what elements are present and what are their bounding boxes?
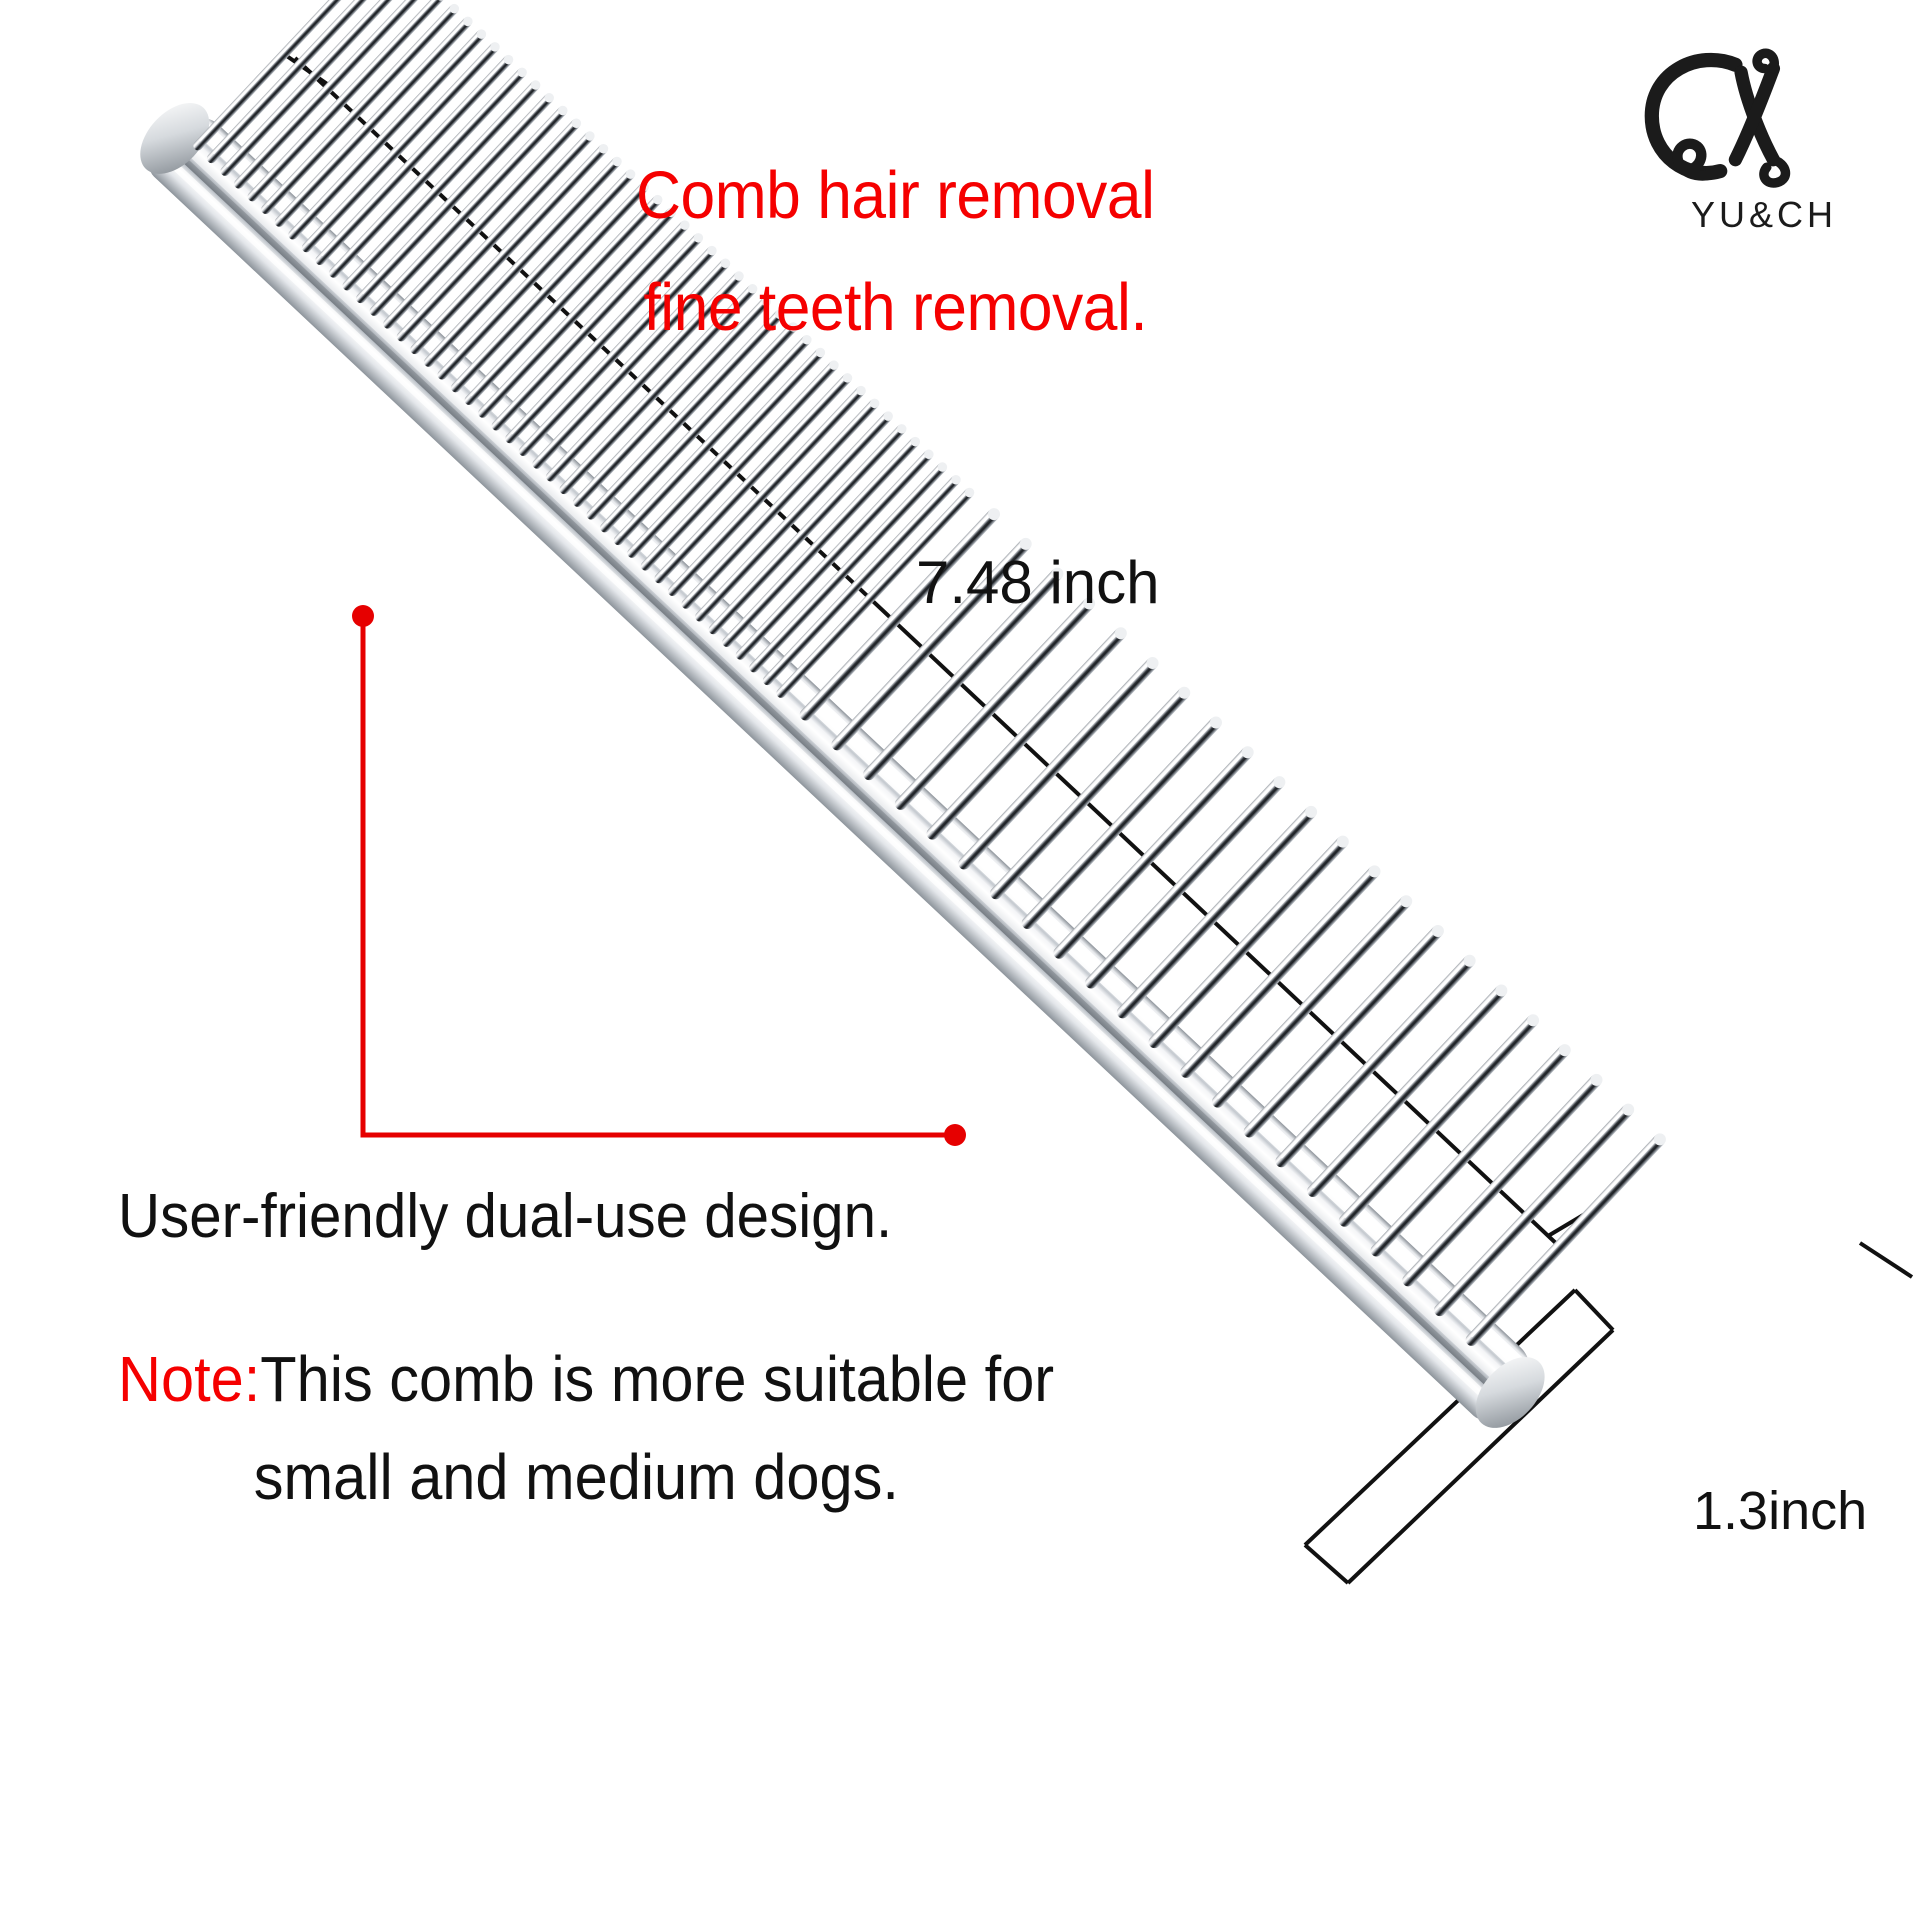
comb-tooth xyxy=(988,684,1193,901)
comb-tooth xyxy=(1051,744,1256,961)
comb-tooth xyxy=(1400,1071,1605,1288)
comb-wide-teeth-group xyxy=(797,506,1668,1349)
comb-tooth xyxy=(1431,1101,1636,1318)
comb-tooth xyxy=(1146,833,1351,1050)
comb-tooth xyxy=(1114,803,1319,1020)
callout-label: User-friendly dual-use design. xyxy=(118,1181,892,1252)
comb-tooth xyxy=(1019,714,1224,931)
note-line-1: This comb is more suitable for xyxy=(260,1343,1054,1415)
headline: Comb hair removal fine teeth removal. xyxy=(636,140,1343,364)
cy-scissors-monogram-icon xyxy=(1624,40,1824,192)
headline-line-1: Comb hair removal xyxy=(636,140,1343,252)
comb-tooth xyxy=(1178,863,1383,1080)
callout-leader xyxy=(352,605,966,1146)
callout-dot-fine-teeth xyxy=(352,605,374,627)
note-keyword: Note: xyxy=(118,1343,260,1415)
note-block: Note:This comb is more suitable for smal… xyxy=(118,1330,1054,1526)
width-dimension-label: 1.3inch xyxy=(1693,1480,1867,1542)
comb-tooth xyxy=(1273,952,1478,1169)
comb-tooth xyxy=(1209,893,1414,1110)
comb-tooth xyxy=(1241,922,1446,1139)
note-line-2: small and medium dogs. xyxy=(254,1428,1054,1526)
comb-tooth xyxy=(1083,774,1288,991)
headline-line-2: fine teeth removal. xyxy=(643,252,1342,364)
comb-tooth xyxy=(1305,982,1510,1199)
comb-tooth xyxy=(924,625,1129,842)
brand-wordmark: YU&CH xyxy=(1624,194,1904,236)
comb-tooth xyxy=(1336,1012,1541,1229)
brand-logo: YU&CH xyxy=(1624,40,1904,236)
infographic-canvas: Comb hair removal fine teeth removal. YU… xyxy=(0,0,1920,1920)
comb-tooth xyxy=(892,595,1097,812)
comb-tooth xyxy=(956,654,1161,871)
length-dimension-label: 7.48 inch xyxy=(916,548,1160,617)
comb-tooth xyxy=(1463,1131,1668,1348)
callout-dot-wide-teeth xyxy=(944,1124,966,1146)
comb-tooth xyxy=(1368,1042,1573,1259)
